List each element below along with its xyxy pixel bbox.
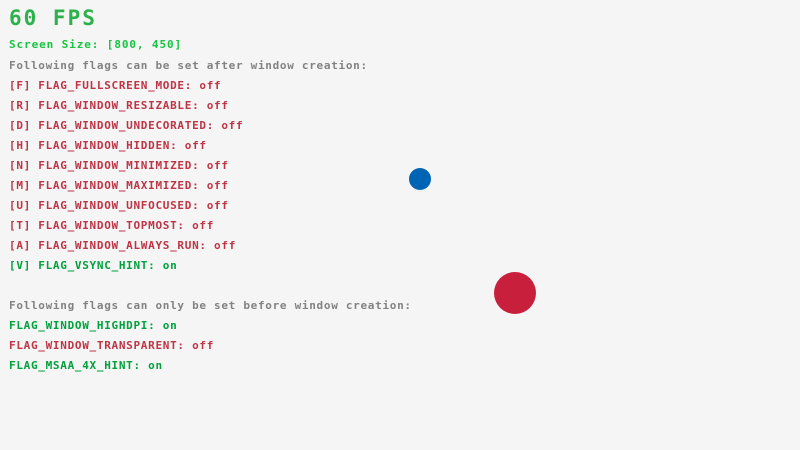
flag-hotkey: [U] [9,199,31,212]
flag-row[interactable]: FLAG_WINDOW_HIGHDPI: on [9,319,177,332]
flag-row[interactable]: [N] FLAG_WINDOW_MINIMIZED: off [9,159,229,172]
flag-hotkey: [R] [9,99,31,112]
flag-hotkey: [A] [9,239,31,252]
blue-ball [409,168,431,190]
flag-state-value: off [207,99,229,112]
flag-name: FLAG_WINDOW_UNDECORATED: [31,119,221,132]
flag-name: FLAG_WINDOW_MINIMIZED: [31,159,207,172]
flag-state-value: off [207,179,229,192]
flag-name: FLAG_WINDOW_TOPMOST: [31,219,192,232]
flag-state-value: off [207,159,229,172]
flag-name: FLAG_MSAA_4X_HINT: [9,359,148,372]
fps-counter: 60 FPS [9,6,97,30]
flag-row[interactable]: [U] FLAG_WINDOW_UNFOCUSED: off [9,199,229,212]
flag-state-value: on [148,359,163,372]
red-ball [494,272,536,314]
flag-name: FLAG_WINDOW_UNFOCUSED: [31,199,207,212]
flag-state-value: on [163,259,178,272]
flag-hotkey: [V] [9,259,31,272]
flag-name: FLAG_WINDOW_ALWAYS_RUN: [31,239,214,252]
flag-state-value: off [192,339,214,352]
flag-state-value: off [221,119,243,132]
flag-row[interactable]: [A] FLAG_WINDOW_ALWAYS_RUN: off [9,239,236,252]
flag-hotkey: [F] [9,79,31,92]
flag-hotkey: [D] [9,119,31,132]
flag-state-value: off [199,79,221,92]
section-heading-before-creation: Following flags can only be set before w… [9,299,412,312]
flag-state-value: off [192,219,214,232]
flag-state-value: off [207,199,229,212]
flag-name: FLAG_WINDOW_RESIZABLE: [31,99,207,112]
flag-hotkey: [M] [9,179,31,192]
flag-hotkey: [H] [9,139,31,152]
flag-row[interactable]: [M] FLAG_WINDOW_MAXIMIZED: off [9,179,229,192]
flag-hotkey: [N] [9,159,31,172]
raylib-window-canvas[interactable]: 60 FPS Screen Size: [800, 450] Following… [0,0,800,450]
flag-row[interactable]: [F] FLAG_FULLSCREEN_MODE: off [9,79,221,92]
flag-state-value: on [163,319,178,332]
flag-state-value: off [214,239,236,252]
flag-hotkey: [T] [9,219,31,232]
flag-row[interactable]: FLAG_WINDOW_TRANSPARENT: off [9,339,214,352]
flag-name: FLAG_FULLSCREEN_MODE: [31,79,199,92]
flag-row[interactable]: FLAG_MSAA_4X_HINT: on [9,359,163,372]
flag-name: FLAG_WINDOW_HIDDEN: [31,139,185,152]
flag-state-value: off [185,139,207,152]
flag-row[interactable]: [D] FLAG_WINDOW_UNDECORATED: off [9,119,243,132]
flag-row[interactable]: [R] FLAG_WINDOW_RESIZABLE: off [9,99,229,112]
screen-size-label: Screen Size: [800, 450] [9,38,182,51]
flag-name: FLAG_WINDOW_HIGHDPI: [9,319,163,332]
flag-row[interactable]: [T] FLAG_WINDOW_TOPMOST: off [9,219,214,232]
flag-row[interactable]: [V] FLAG_VSYNC_HINT: on [9,259,177,272]
flag-name: FLAG_VSYNC_HINT: [31,259,163,272]
flag-row[interactable]: [H] FLAG_WINDOW_HIDDEN: off [9,139,207,152]
section-heading-after-creation: Following flags can be set after window … [9,59,368,72]
flag-name: FLAG_WINDOW_TRANSPARENT: [9,339,192,352]
flag-name: FLAG_WINDOW_MAXIMIZED: [31,179,207,192]
